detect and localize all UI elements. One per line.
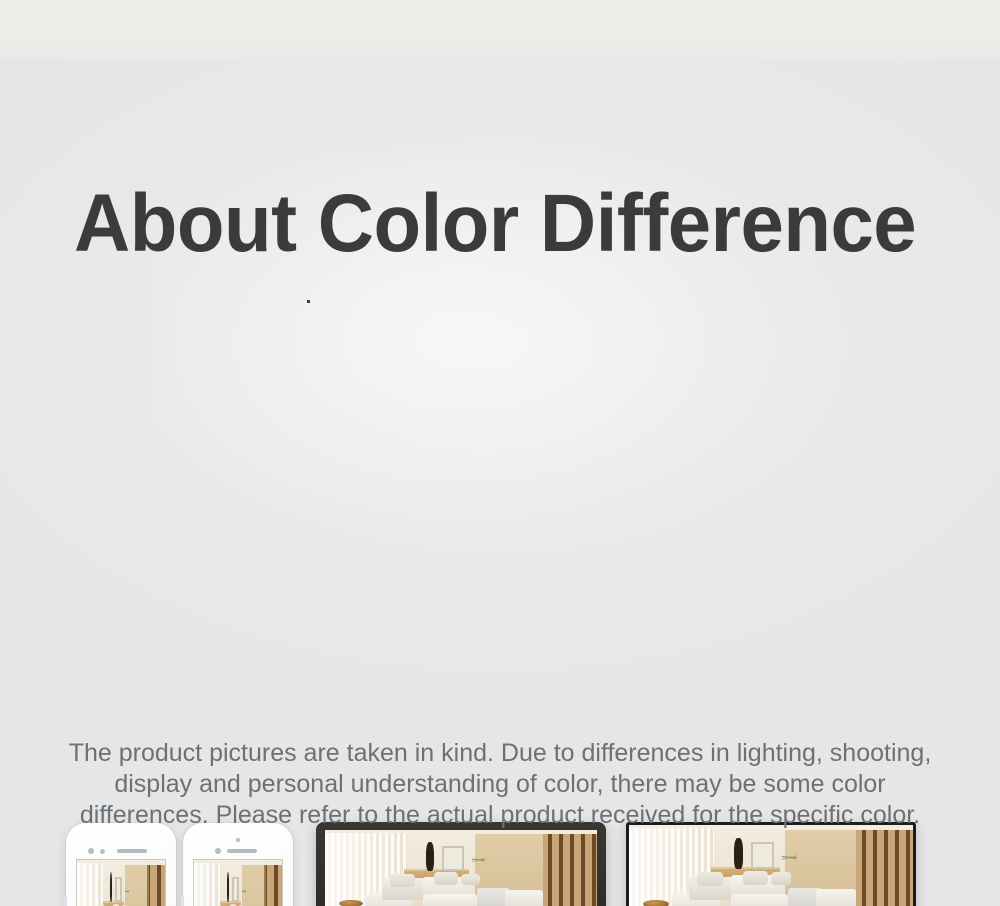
scene-side-table [643,900,669,906]
scene-picture-frame [115,877,122,903]
scene-plant [242,874,246,906]
scene-vase [110,872,113,902]
scene-window-glow [194,863,220,906]
color-difference-disclaimer: The product pictures are taken in kind. … [30,738,970,831]
scene-cushion [697,872,723,886]
scene-sofa-module [423,894,477,906]
device-phone-iphone [183,823,293,906]
scene-vase [227,872,230,902]
room-scene [194,860,282,906]
scene-picture-frame [751,842,774,869]
proximity-sensor-icon [236,838,240,842]
scene-picture-frame [442,846,464,871]
proximity-sensor-icon [100,849,105,854]
scene-cushion [743,871,769,885]
room-scene [325,830,597,906]
device-showcase-row [0,400,1000,690]
room-scene [77,860,165,906]
scene-cushion [390,874,414,887]
disclaimer-line-1: The product pictures are taken in kind. … [30,738,970,769]
image-artifact-speck [307,300,310,303]
scene-cushion [434,872,458,885]
room-scene [629,825,913,906]
scene-picture-frame [232,877,239,903]
device-apple-display [316,822,606,906]
scene-slat-frame [263,865,282,906]
scene-plant [782,839,796,874]
scene-plant [125,874,129,906]
device-phone-android [66,823,176,906]
black-monitor-screen [629,825,913,906]
earpiece-speaker-icon [227,849,257,853]
front-camera-icon [215,848,221,854]
scene-vase [734,838,743,869]
earpiece-speaker-icon [117,849,147,853]
color-difference-infographic: About Color Difference [0,0,1000,906]
scene-slat-frame [146,865,165,906]
scene-vase [426,842,434,871]
disclaimer-line-2: display and personal understanding of co… [30,769,970,800]
scene-plant [472,843,486,875]
phone-android-screen [76,859,166,906]
device-black-monitor [626,822,916,906]
page-title: About Color Difference [74,182,891,266]
volume-key[interactable] [64,895,67,906]
volume-key[interactable] [181,895,184,906]
front-camera-icon [88,848,94,854]
background-top-band [0,0,1000,58]
scene-sofa-module [816,889,856,906]
scene-sofa-module [731,894,788,906]
disclaimer-line-3: differences. Please refer to the actual … [30,800,970,831]
phone-iphone-screen [193,859,283,906]
scene-sofa-module [505,890,543,906]
scene-slat-frame [851,830,913,906]
black-monitor-bezel [626,822,916,906]
scene-slat-frame [537,834,597,906]
scene-cushion [461,874,480,886]
apple-display-screen [325,830,597,906]
scene-window-glow [77,863,103,906]
scene-cushion [771,872,791,885]
apple-display-bezel [316,822,606,906]
